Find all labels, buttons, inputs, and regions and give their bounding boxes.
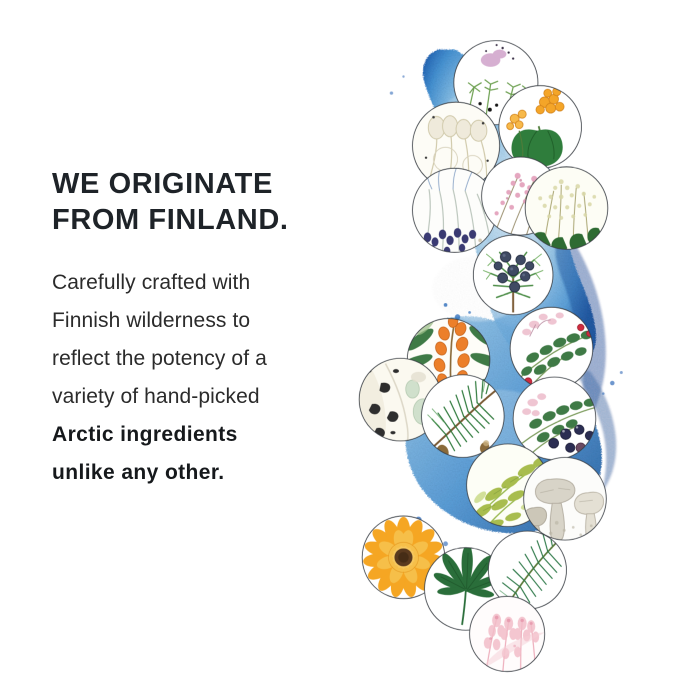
poster-canvas: WE ORIGINATE FROM FINLAND. Carefully cra…: [0, 0, 679, 679]
body-line-1: Carefully crafted with: [52, 264, 352, 302]
body-line-6-emphasis: unlike any other.: [52, 454, 352, 492]
body-line-5-emphasis: Arctic ingredients: [52, 416, 352, 454]
disc-willowherb: [470, 596, 545, 674]
headline-line-1: WE ORIGINATE: [52, 166, 352, 202]
body-line-3: reflect the potency of a: [52, 340, 352, 378]
copy-block: WE ORIGINATE FROM FINLAND. Carefully cra…: [52, 166, 352, 492]
body-paragraph: Carefully crafted with Finnish wildernes…: [52, 238, 352, 492]
body-line-4: variety of hand-picked: [52, 378, 352, 416]
watercolor-map-illustration: [330, 18, 679, 679]
headline-line-2: FROM FINLAND.: [52, 202, 352, 238]
body-line-2: Finnish wilderness to: [52, 302, 352, 340]
page-title: WE ORIGINATE FROM FINLAND.: [52, 166, 352, 238]
disc-juniper: [473, 235, 553, 315]
disc-cloudberry: [499, 86, 582, 169]
